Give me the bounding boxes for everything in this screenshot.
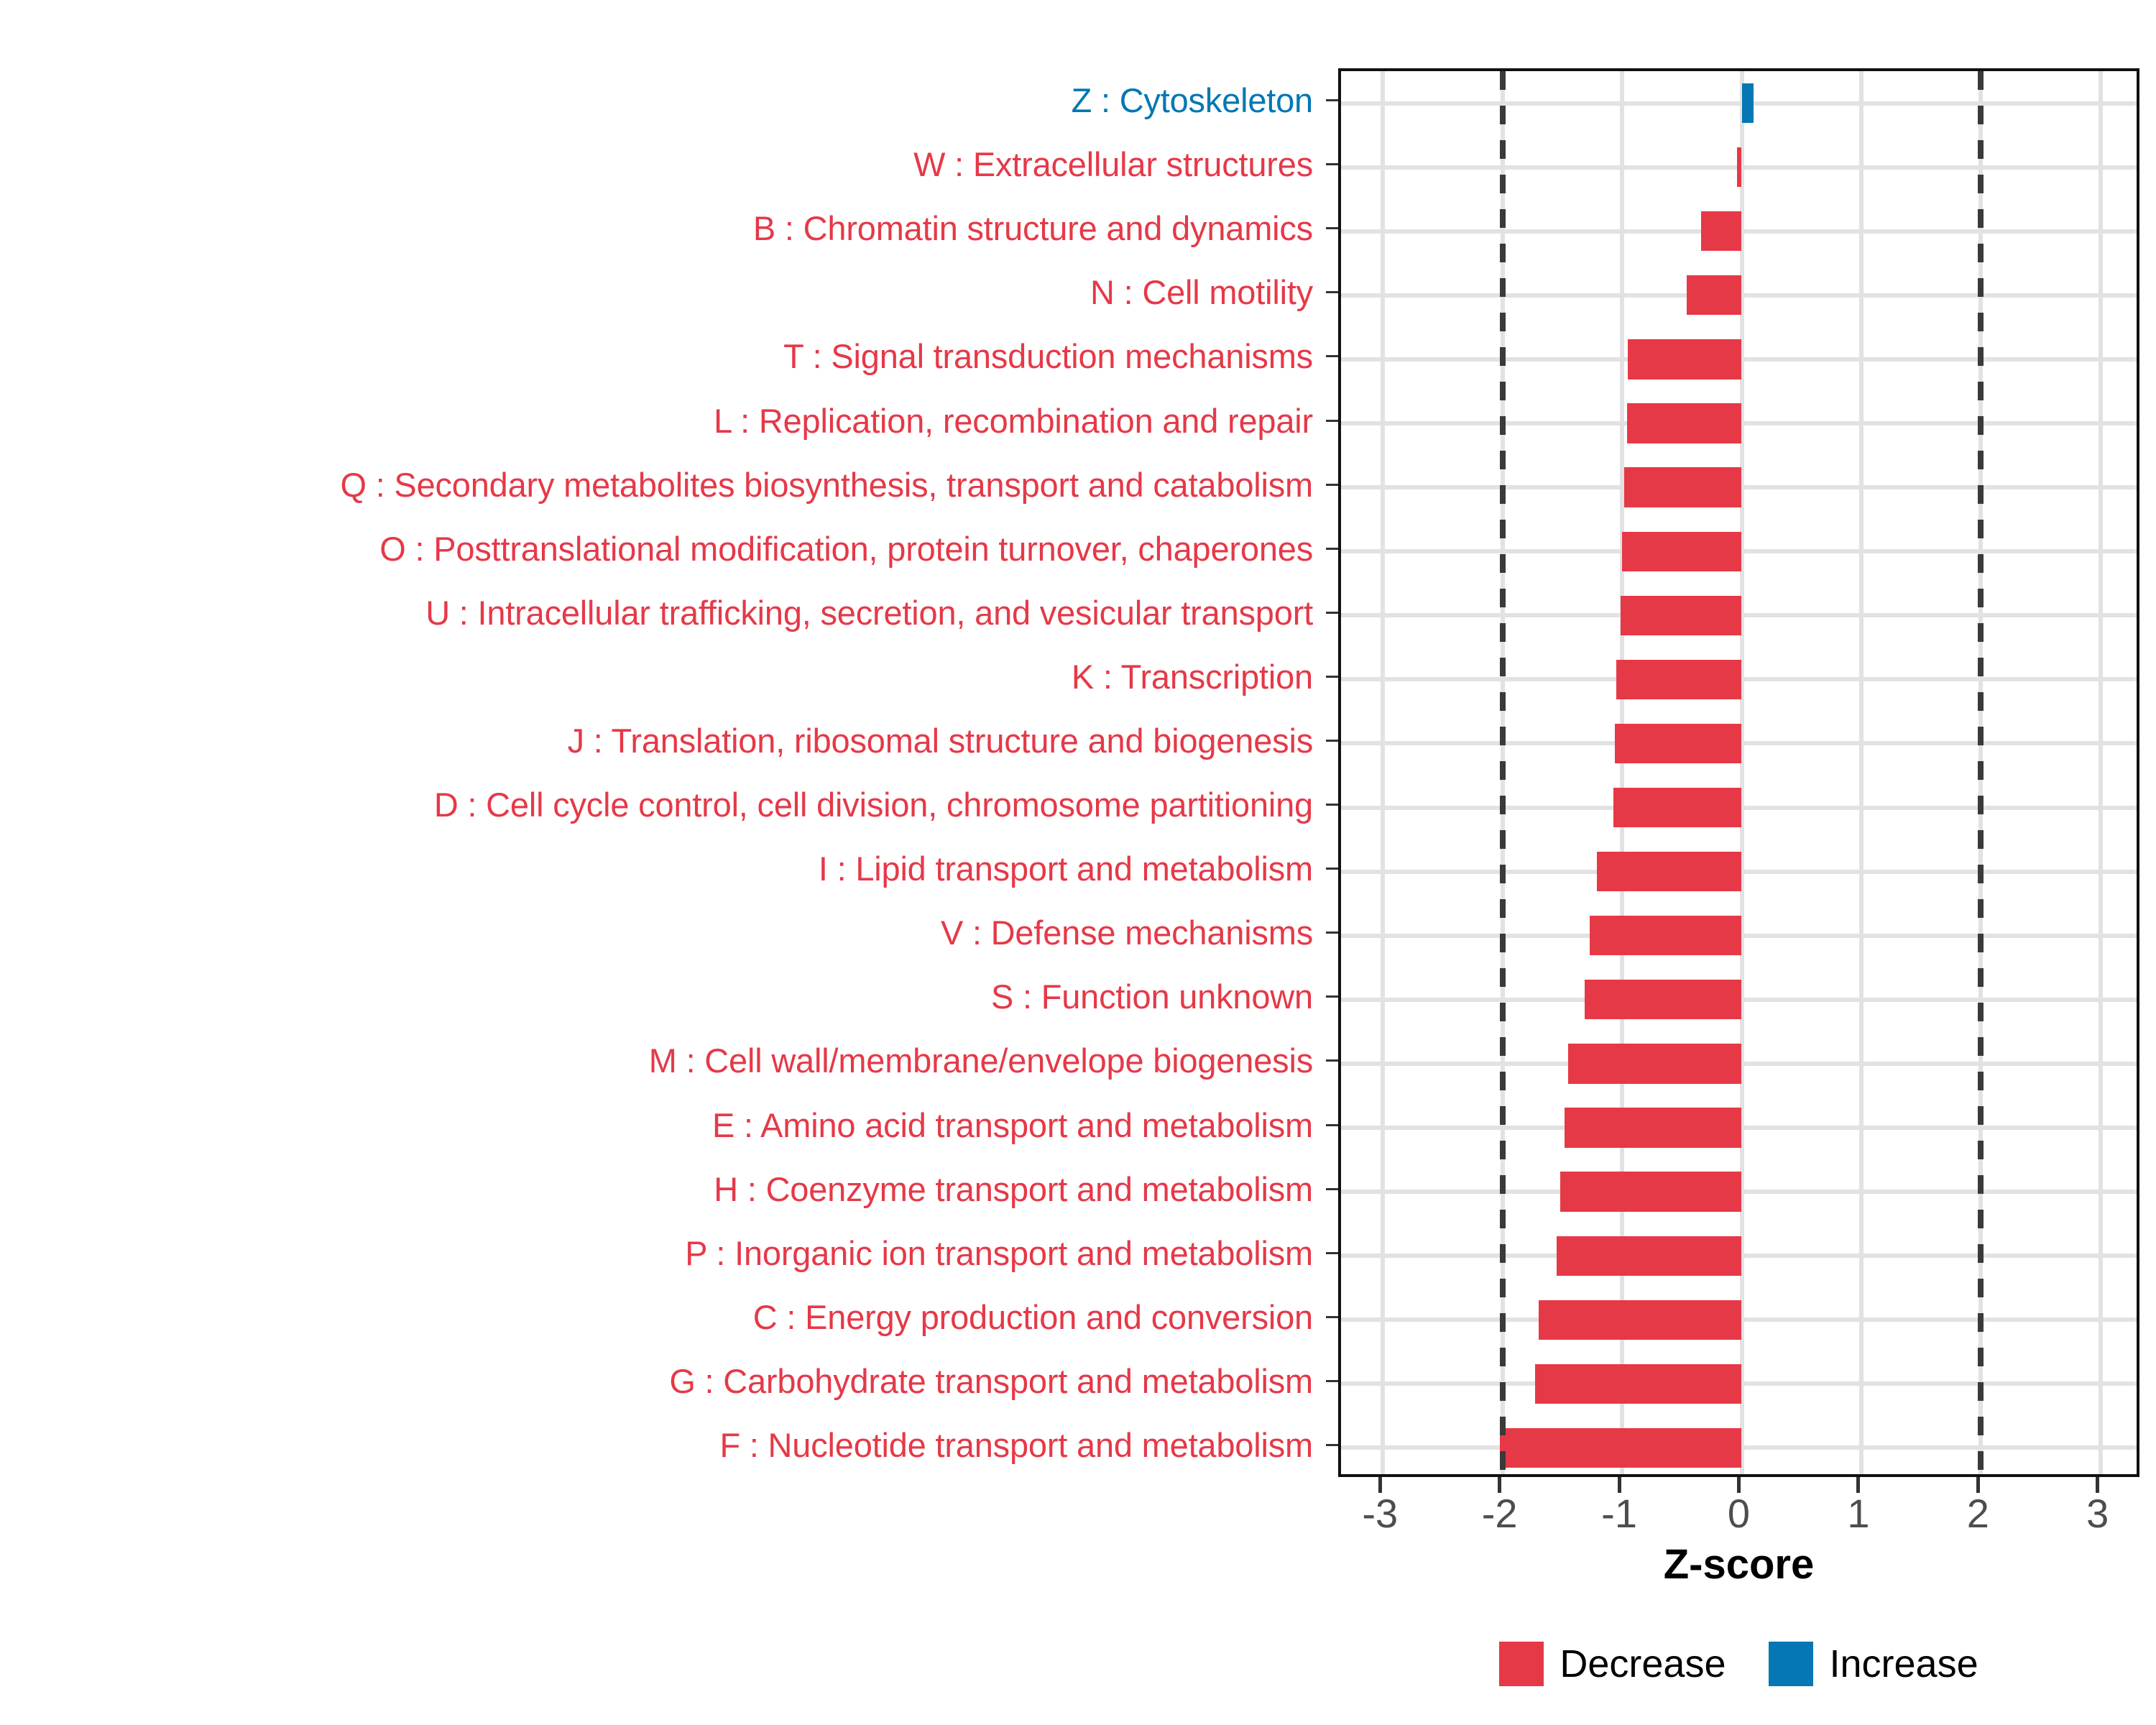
x-tick-label: -3 bbox=[1362, 1494, 1398, 1534]
bar-row bbox=[1341, 1172, 2137, 1211]
bar[interactable] bbox=[1500, 1428, 1741, 1468]
y-axis-tick bbox=[1326, 773, 1338, 837]
y-axis-label-row: K : Transcription bbox=[0, 645, 1326, 709]
reference-line bbox=[1978, 71, 1984, 1474]
y-tick-mark bbox=[1326, 995, 1338, 998]
y-axis-category-label: P : Inorganic ion transport and metaboli… bbox=[685, 1236, 1313, 1270]
y-tick-mark bbox=[1326, 1380, 1338, 1382]
y-tick-mark bbox=[1326, 1188, 1338, 1190]
y-axis-label-row: B : Chromatin structure and dynamics bbox=[0, 196, 1326, 260]
y-tick-mark bbox=[1326, 420, 1338, 422]
y-axis-tick bbox=[1326, 1029, 1338, 1092]
bar[interactable] bbox=[1585, 980, 1741, 1019]
y-axis-tick bbox=[1326, 1157, 1338, 1221]
bar[interactable] bbox=[1742, 83, 1754, 123]
bar-row bbox=[1341, 147, 2137, 187]
y-tick-mark bbox=[1326, 484, 1338, 486]
y-axis-category-label: V : Defense mechanisms bbox=[941, 916, 1313, 949]
bar-series-layer bbox=[1341, 71, 2137, 1474]
y-axis-tick bbox=[1326, 709, 1338, 773]
y-tick-mark bbox=[1326, 804, 1338, 806]
bar[interactable] bbox=[1737, 147, 1742, 187]
bar[interactable] bbox=[1597, 852, 1741, 891]
bar[interactable] bbox=[1701, 211, 1742, 251]
x-tick-label: 0 bbox=[1728, 1494, 1750, 1534]
bar-row bbox=[1341, 211, 2137, 251]
bar[interactable] bbox=[1627, 403, 1742, 443]
y-axis-label-row: Q : Secondary metabolites biosynthesis, … bbox=[0, 453, 1326, 517]
bar-row bbox=[1341, 1428, 2137, 1468]
cog-zscore-bar-chart: Z : CytoskeletonW : Extracellular struct… bbox=[0, 0, 2156, 1725]
y-axis-label-row: M : Cell wall/membrane/envelope biogenes… bbox=[0, 1029, 1326, 1092]
y-axis-tick bbox=[1326, 965, 1338, 1029]
y-axis-tick-marks bbox=[1326, 68, 1338, 1477]
y-tick-mark bbox=[1326, 1252, 1338, 1254]
y-axis-tick bbox=[1326, 517, 1338, 581]
bar-row bbox=[1341, 852, 2137, 891]
y-axis-label-row: C : Energy production and conversion bbox=[0, 1285, 1326, 1349]
bar[interactable] bbox=[1687, 275, 1742, 315]
y-axis-label-row: J : Translation, ribosomal structure and… bbox=[0, 709, 1326, 773]
y-axis-label-row: W : Extracellular structures bbox=[0, 132, 1326, 196]
bar-row bbox=[1341, 788, 2137, 827]
y-axis-tick bbox=[1326, 260, 1338, 324]
y-tick-mark bbox=[1326, 612, 1338, 614]
y-axis-category-label: U : Intracellular trafficking, secretion… bbox=[425, 596, 1313, 630]
bar-row bbox=[1341, 916, 2137, 955]
y-axis-category-label: O : Posttranslational modification, prot… bbox=[379, 532, 1313, 566]
y-axis-tick bbox=[1326, 388, 1338, 452]
plot-panel bbox=[1338, 68, 2139, 1477]
y-axis-label-row: V : Defense mechanisms bbox=[0, 901, 1326, 965]
y-tick-mark bbox=[1326, 163, 1338, 165]
bar-row bbox=[1341, 1108, 2137, 1147]
legend-label: Decrease bbox=[1560, 1644, 1726, 1683]
y-tick-mark bbox=[1326, 99, 1338, 101]
y-axis-category-label: G : Carbohydrate transport and metabolis… bbox=[669, 1364, 1313, 1398]
legend-label: Increase bbox=[1829, 1644, 1978, 1683]
bar-row bbox=[1341, 724, 2137, 763]
y-axis-category-label: S : Function unknown bbox=[991, 980, 1313, 1013]
y-axis-category-label: N : Cell motility bbox=[1090, 275, 1313, 309]
y-axis-category-label: H : Coenzyme transport and metabolism bbox=[714, 1172, 1313, 1206]
reference-line bbox=[1500, 71, 1506, 1474]
y-axis-tick bbox=[1326, 1221, 1338, 1285]
y-axis-tick bbox=[1326, 901, 1338, 965]
legend-item-decrease[interactable]: Decrease bbox=[1499, 1642, 1726, 1686]
bar-row bbox=[1341, 275, 2137, 315]
bar-row bbox=[1341, 660, 2137, 699]
bar-row bbox=[1341, 532, 2137, 571]
y-axis-tick bbox=[1326, 581, 1338, 645]
y-axis-label-row: N : Cell motility bbox=[0, 260, 1326, 324]
x-tick-label: 1 bbox=[1847, 1494, 1869, 1534]
y-axis-category-label: L : Replication, recombination and repai… bbox=[714, 404, 1313, 438]
x-tick-label: 2 bbox=[1967, 1494, 1989, 1534]
bar-row bbox=[1341, 1044, 2137, 1083]
legend-item-increase[interactable]: Increase bbox=[1769, 1642, 1978, 1686]
bar[interactable] bbox=[1539, 1300, 1742, 1340]
y-axis-label-row: E : Amino acid transport and metabolism bbox=[0, 1093, 1326, 1157]
bar[interactable] bbox=[1621, 596, 1741, 635]
y-tick-mark bbox=[1326, 676, 1338, 678]
bar-row bbox=[1341, 1300, 2137, 1340]
y-axis-category-label: D : Cell cycle control, cell division, c… bbox=[434, 788, 1313, 822]
bar[interactable] bbox=[1613, 788, 1741, 827]
y-axis-tick bbox=[1326, 837, 1338, 901]
bar-row bbox=[1341, 980, 2137, 1019]
bar[interactable] bbox=[1557, 1236, 1742, 1276]
y-axis-category-label: Z : Cytoskeleton bbox=[1072, 83, 1313, 117]
bar[interactable] bbox=[1568, 1044, 1741, 1083]
y-axis-label-row: D : Cell cycle control, cell division, c… bbox=[0, 773, 1326, 837]
y-axis-label-row: G : Carbohydrate transport and metabolis… bbox=[0, 1349, 1326, 1413]
y-axis-tick bbox=[1326, 196, 1338, 260]
y-tick-mark bbox=[1326, 1124, 1338, 1126]
y-axis-tick bbox=[1326, 1285, 1338, 1349]
bar[interactable] bbox=[1622, 532, 1741, 571]
y-axis-category-label: J : Translation, ribosomal structure and… bbox=[568, 724, 1313, 758]
y-axis-category-label: C : Energy production and conversion bbox=[753, 1300, 1313, 1334]
y-axis-category-label: W : Extracellular structures bbox=[913, 147, 1313, 181]
y-axis-label-row: L : Replication, recombination and repai… bbox=[0, 388, 1326, 452]
bar[interactable] bbox=[1565, 1108, 1741, 1147]
bar[interactable] bbox=[1535, 1364, 1742, 1404]
y-axis-category-label: I : Lipid transport and metabolism bbox=[819, 852, 1313, 885]
y-axis-tick bbox=[1326, 68, 1338, 132]
x-tick-label: -2 bbox=[1482, 1494, 1518, 1534]
y-axis-category-label: E : Amino acid transport and metabolism bbox=[712, 1108, 1313, 1142]
bar-row bbox=[1341, 403, 2137, 443]
x-axis-title: Z-score bbox=[1338, 1544, 2139, 1586]
y-axis-tick bbox=[1326, 132, 1338, 196]
y-tick-mark bbox=[1326, 1444, 1338, 1446]
legend-swatch-icon bbox=[1499, 1642, 1544, 1686]
y-axis-category-label: T : Signal transduction mechanisms bbox=[783, 339, 1313, 373]
bar-row bbox=[1341, 467, 2137, 507]
y-axis-label-row: Z : Cytoskeleton bbox=[0, 68, 1326, 132]
bar[interactable] bbox=[1624, 467, 1741, 507]
y-axis-label-row: S : Function unknown bbox=[0, 965, 1326, 1029]
y-tick-mark bbox=[1326, 227, 1338, 229]
bar-row bbox=[1341, 339, 2137, 379]
y-tick-mark bbox=[1326, 1316, 1338, 1318]
x-tick-label: -1 bbox=[1601, 1494, 1637, 1534]
y-axis-label-row: O : Posttranslational modification, prot… bbox=[0, 517, 1326, 581]
y-axis-tick bbox=[1326, 453, 1338, 517]
y-tick-mark bbox=[1326, 1059, 1338, 1062]
y-axis-label-row: P : Inorganic ion transport and metaboli… bbox=[0, 1221, 1326, 1285]
y-axis-label-row: T : Signal transduction mechanisms bbox=[0, 324, 1326, 388]
bar-row bbox=[1341, 1236, 2137, 1276]
y-axis-category-label: Q : Secondary metabolites biosynthesis, … bbox=[340, 468, 1313, 502]
chart-legend: DecreaseIncrease bbox=[1338, 1632, 2139, 1696]
y-axis-tick bbox=[1326, 1413, 1338, 1477]
y-axis-category-label: K : Transcription bbox=[1072, 660, 1313, 694]
y-tick-mark bbox=[1326, 291, 1338, 293]
y-tick-mark bbox=[1326, 740, 1338, 742]
bar[interactable] bbox=[1560, 1172, 1742, 1211]
y-axis-label-row: U : Intracellular trafficking, secretion… bbox=[0, 581, 1326, 645]
y-axis-category-label: B : Chromatin structure and dynamics bbox=[753, 211, 1313, 245]
y-axis-category-label: M : Cell wall/membrane/envelope biogenes… bbox=[649, 1044, 1313, 1077]
bar-row bbox=[1341, 83, 2137, 123]
y-axis-label-row: I : Lipid transport and metabolism bbox=[0, 837, 1326, 901]
y-tick-mark bbox=[1326, 868, 1338, 870]
x-tick-label: 3 bbox=[2086, 1494, 2109, 1534]
y-tick-mark bbox=[1326, 931, 1338, 934]
bar[interactable] bbox=[1590, 916, 1741, 955]
y-axis-label-row: H : Coenzyme transport and metabolism bbox=[0, 1157, 1326, 1221]
y-axis-tick bbox=[1326, 645, 1338, 709]
bar[interactable] bbox=[1628, 339, 1741, 379]
y-axis-tick bbox=[1326, 324, 1338, 388]
y-axis-label-row: F : Nucleotide transport and metabolism bbox=[0, 1413, 1326, 1477]
y-axis-tick bbox=[1326, 1349, 1338, 1413]
y-tick-mark bbox=[1326, 548, 1338, 550]
legend-swatch-icon bbox=[1769, 1642, 1813, 1686]
y-axis-category-labels: Z : CytoskeletonW : Extracellular struct… bbox=[0, 68, 1326, 1477]
bar[interactable] bbox=[1615, 724, 1741, 763]
y-tick-mark bbox=[1326, 355, 1338, 357]
y-axis-category-label: F : Nucleotide transport and metabolism bbox=[719, 1428, 1313, 1462]
bar[interactable] bbox=[1616, 660, 1742, 699]
bar-row bbox=[1341, 1364, 2137, 1404]
bar-row bbox=[1341, 596, 2137, 635]
x-axis-tick-labels: -3-2-10123 bbox=[1338, 1494, 2139, 1541]
y-axis-tick bbox=[1326, 1093, 1338, 1157]
